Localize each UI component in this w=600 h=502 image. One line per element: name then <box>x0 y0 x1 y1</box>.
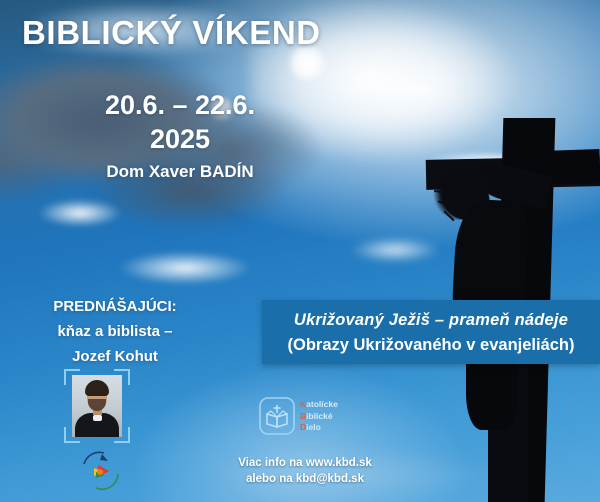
speaker-role: kňaz a biblista – <box>10 319 220 344</box>
event-year: 2025 <box>70 122 290 156</box>
event-date-range: 20.6. – 22.6. <box>70 88 290 122</box>
organizer-line-2: Biblické <box>300 411 338 423</box>
organizer-line-3: Dielo <box>300 422 338 434</box>
kbd-book-cross-icon <box>258 396 296 436</box>
theme-subtitle: (Obrazy Ukrižovaného v evanjeliách) <box>262 336 600 355</box>
page-title: BIBLICKÝ VÍKEND <box>22 14 321 52</box>
cloud-bright-edge-left <box>20 188 150 238</box>
organizer-name: Katolícke Biblické Dielo <box>300 399 338 434</box>
theme-title: Ukrižovaný Ježiš – prameň nádeje <box>262 311 600 330</box>
contact-website: Viac info na www.kbd.sk <box>205 455 405 471</box>
event-dates-block: 20.6. – 22.6. 2025 Dom Xaver BADÍN <box>70 88 290 186</box>
speaker-portrait <box>64 369 130 443</box>
speaker-heading: PREDNÁŠAJÚCI: <box>10 294 220 319</box>
speaker-block: PREDNÁŠAJÚCI: kňaz a biblista – Jozef Ko… <box>10 294 220 369</box>
organizer-logo: Katolícke Biblické Dielo <box>258 396 354 438</box>
crucifix-silhouette <box>410 0 600 502</box>
frame-corner-bottom-left <box>64 427 80 443</box>
event-venue: Dom Xaver BADÍN <box>70 158 290 186</box>
speaker-name: Jozef Kohut <box>10 344 220 369</box>
colorful-emblem-icon <box>78 448 124 492</box>
frame-corner-bottom-right <box>114 427 130 443</box>
frame-corner-top-left <box>64 369 80 385</box>
organizer-line-1: Katolícke <box>300 399 338 411</box>
frame-corner-top-right <box>114 369 130 385</box>
contact-info: Viac info na www.kbd.sk alebo na kbd@kbd… <box>205 455 405 487</box>
cloud-bright-edge-center <box>90 238 290 298</box>
poster: BIBLICKÝ VÍKEND 20.6. – 22.6. 2025 Dom X… <box>0 0 600 502</box>
theme-banner: Ukrižovaný Ježiš – prameň nádeje (Obrazy… <box>262 300 600 364</box>
photo-clerical-collar <box>93 415 102 421</box>
contact-email: alebo na kbd@kbd.sk <box>205 471 405 487</box>
